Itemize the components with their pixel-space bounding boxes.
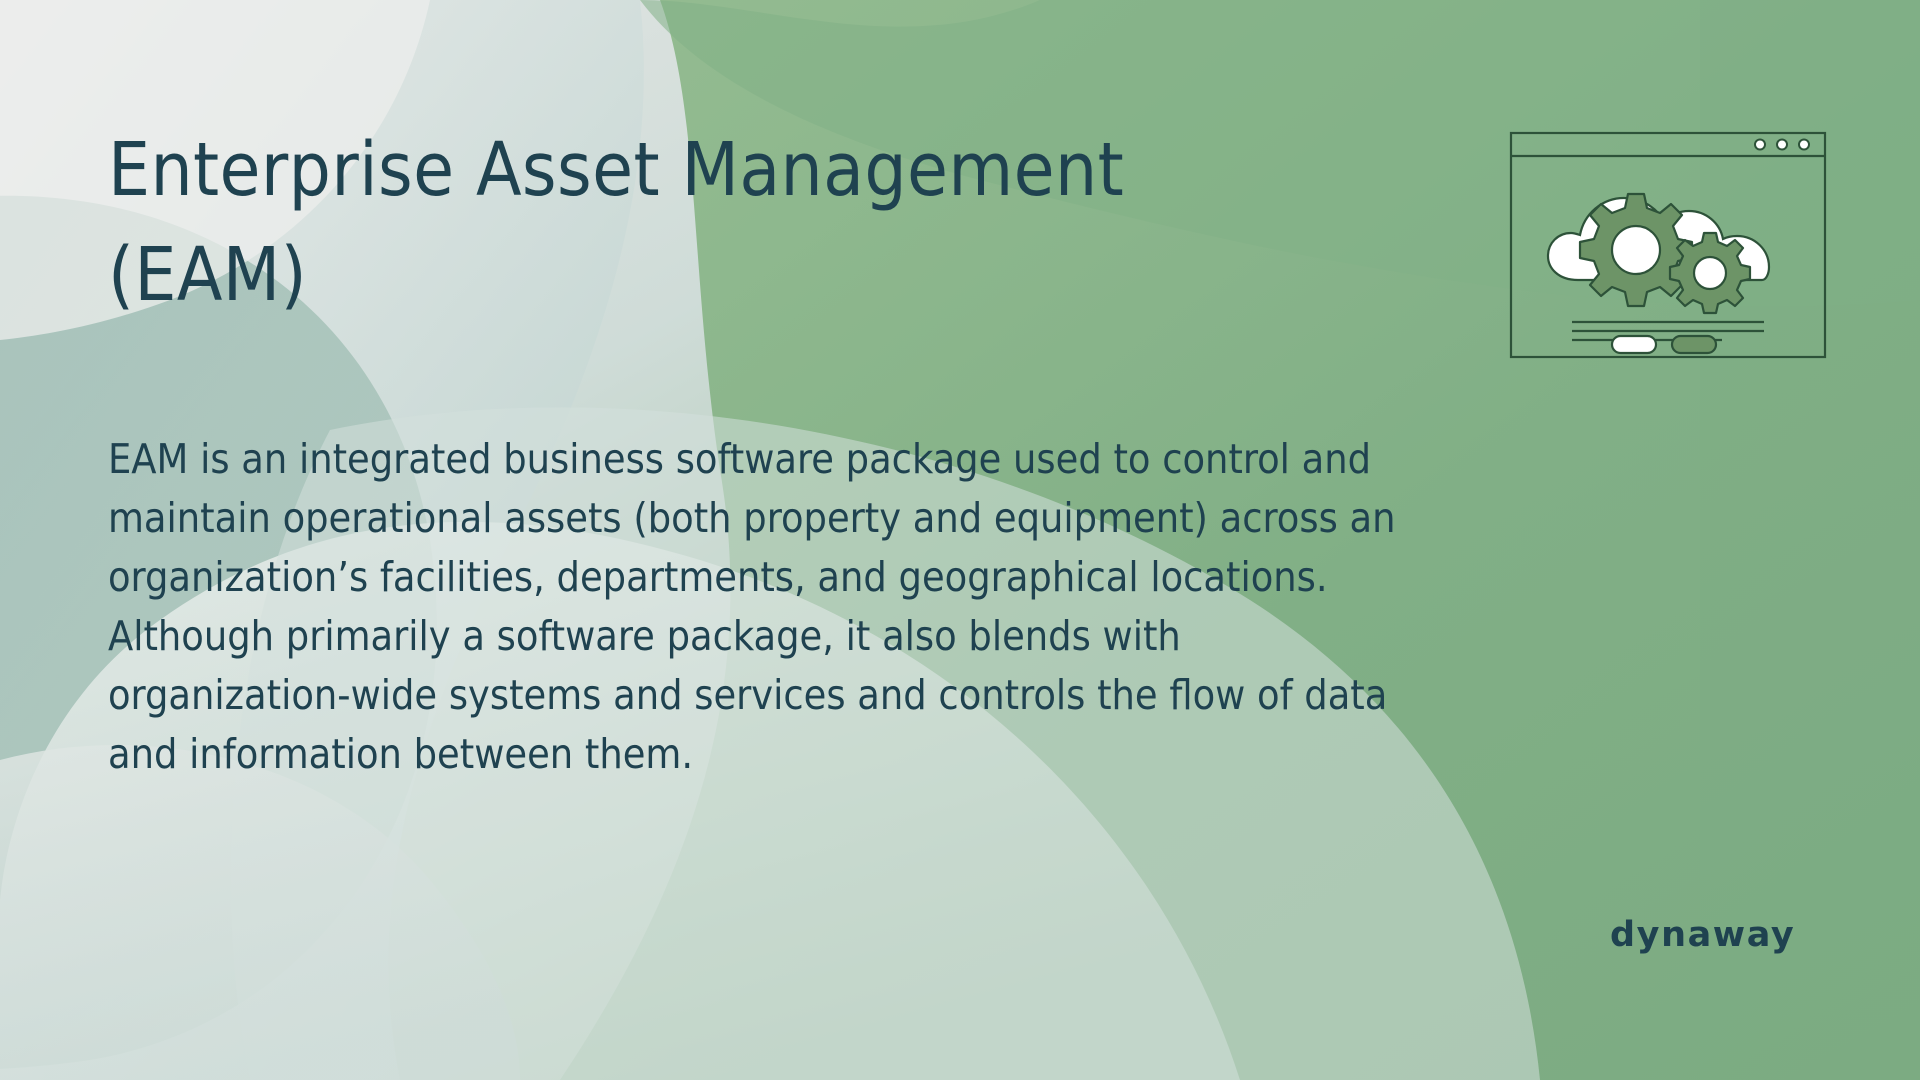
page-title: Enterprise Asset Management (EAM) — [108, 118, 1288, 328]
primary-pill-button[interactable] — [1612, 336, 1656, 353]
cloud-gears-illustration — [1508, 130, 1828, 360]
slide-canvas: Enterprise Asset Management (EAM) EAM is… — [0, 0, 1920, 1080]
illustration-buttons-layer — [1508, 130, 1828, 360]
body-paragraph: EAM is an integrated business software p… — [108, 430, 1398, 784]
dynaway-logo: dynaway — [1610, 915, 1795, 955]
secondary-pill-button[interactable] — [1672, 336, 1716, 353]
